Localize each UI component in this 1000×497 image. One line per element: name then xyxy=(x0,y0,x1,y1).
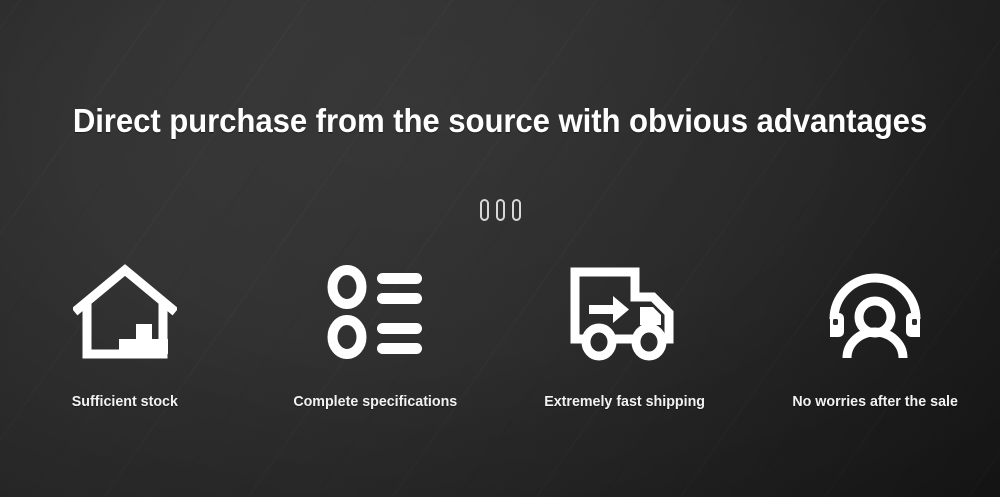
feature-item-sufficient-stock: Sufficient stock xyxy=(0,258,250,412)
promo-banner: Direct purchase from the source with obv… xyxy=(0,0,1000,497)
pill-divider-dot-2 xyxy=(496,199,505,221)
feature-label: No worries after the sale xyxy=(792,392,958,412)
feature-item-after-sale-support: No worries after the sale xyxy=(750,258,1000,412)
three-pill-divider xyxy=(0,199,1000,221)
warehouse-house-icon xyxy=(73,258,177,366)
feature-label: Complete specifications xyxy=(293,392,457,412)
feature-item-complete-specifications: Complete specifications xyxy=(250,258,500,412)
feature-label: Extremely fast shipping xyxy=(545,392,706,412)
feature-label: Sufficient stock xyxy=(72,392,178,412)
headset-support-icon xyxy=(825,258,925,366)
page-title: Direct purchase from the source with obv… xyxy=(28,101,973,141)
specification-list-icon xyxy=(325,258,425,366)
pill-divider-dot-1 xyxy=(480,199,489,221)
pill-divider-dot-3 xyxy=(512,199,521,221)
feature-item-fast-shipping: Extremely fast shipping xyxy=(500,258,750,412)
feature-list: Sufficient stock Complete specifications xyxy=(0,258,1000,412)
delivery-truck-icon xyxy=(569,258,681,366)
